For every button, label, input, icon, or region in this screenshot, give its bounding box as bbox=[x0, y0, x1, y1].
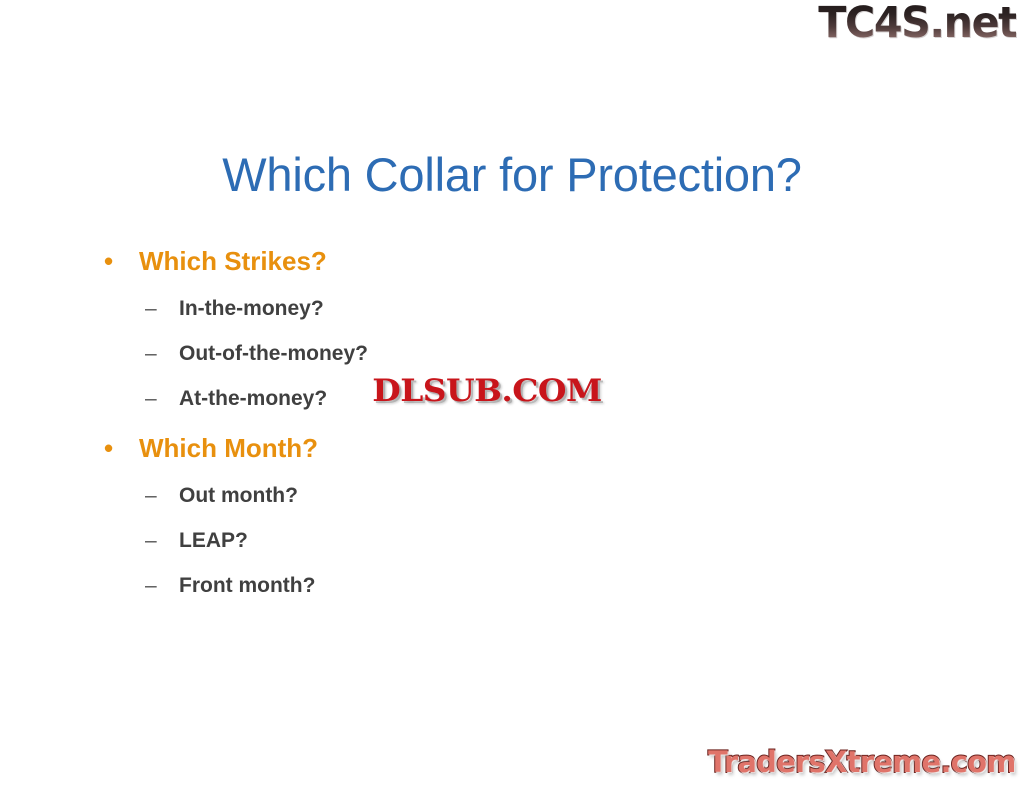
outline-item-level2-label: Out month? bbox=[179, 484, 298, 507]
dash-marker-icon: – bbox=[145, 298, 157, 319]
outline-item-level1: • Which Strikes? bbox=[96, 248, 836, 274]
outline-item-level2-label: At-the-money? bbox=[179, 387, 327, 410]
outline-item-level2: – Out-of-the-money? bbox=[96, 343, 836, 364]
outline-item-level1: • Which Month? bbox=[96, 435, 836, 461]
outline-item-level2: – Out month? bbox=[96, 485, 836, 506]
outline-item-level2-label: Front month? bbox=[179, 574, 315, 597]
bullet-dot-icon: • bbox=[104, 435, 113, 461]
outline-item-level2: – In-the-money? bbox=[96, 298, 836, 319]
page-title: Which Collar for Protection? bbox=[0, 148, 1024, 202]
outline-item-level1-label: Which Month? bbox=[139, 433, 318, 463]
outline-item-level2-label: LEAP? bbox=[179, 529, 248, 552]
dash-marker-icon: – bbox=[145, 343, 157, 364]
dash-marker-icon: – bbox=[145, 575, 157, 596]
tc4s-logo: TC4S.net bbox=[818, 2, 1016, 45]
dash-marker-icon: – bbox=[145, 388, 157, 409]
slide-canvas: TC4S.net Which Collar for Protection? • … bbox=[0, 0, 1024, 791]
outline-item-level2-label: Out-of-the-money? bbox=[179, 342, 368, 365]
outline-item-level2: – LEAP? bbox=[96, 530, 836, 551]
outline-item-level2-label: In-the-money? bbox=[179, 297, 324, 320]
outline-item-level1-label: Which Strikes? bbox=[139, 246, 327, 276]
bullet-dot-icon: • bbox=[104, 248, 113, 274]
dlsub-watermark: DLSUB.COM bbox=[368, 372, 606, 410]
dash-marker-icon: – bbox=[145, 530, 157, 551]
outline-item-level2: – Front month? bbox=[96, 575, 836, 596]
tradersxtreme-watermark: TradersXtreme.com bbox=[708, 747, 1016, 779]
dash-marker-icon: – bbox=[145, 485, 157, 506]
outline-list: • Which Strikes? – In-the-money? – Out-o… bbox=[96, 248, 836, 596]
